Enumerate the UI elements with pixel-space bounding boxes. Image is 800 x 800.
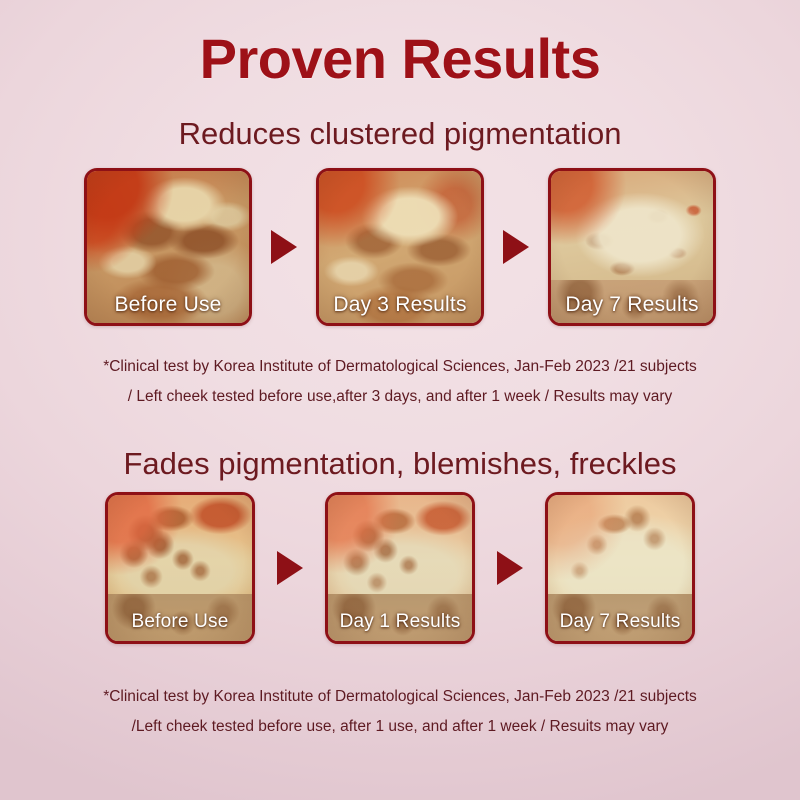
- panel-label: Day 3 Results: [319, 293, 481, 317]
- disclaimer-2: *Clinical test by Korea Institute of Der…: [0, 682, 800, 742]
- disclaimer-line: /Left cheek tested before use, after 1 u…: [0, 712, 800, 742]
- arrow-right-icon: [277, 551, 303, 585]
- result-panel-day-7-1: Day 7 Results: [548, 168, 716, 326]
- disclaimer-1: *Clinical test by Korea Institute of Der…: [0, 352, 800, 412]
- result-panel-day-3: Day 3 Results: [316, 168, 484, 326]
- results-row-1: Before Use Day 3 Results Day 7 Results: [0, 168, 800, 326]
- disclaimer-line: / Left cheek tested before use,after 3 d…: [0, 382, 800, 412]
- arrow-right-icon: [497, 551, 523, 585]
- result-panel-day-1: Day 1 Results: [325, 492, 475, 644]
- panel-label: Day 7 Results: [548, 611, 692, 633]
- disclaimer-line: *Clinical test by Korea Institute of Der…: [0, 352, 800, 382]
- result-panel-before-use-1: Before Use: [84, 168, 252, 326]
- disclaimer-line: *Clinical test by Korea Institute of Der…: [0, 682, 800, 712]
- page-title: Proven Results: [0, 26, 800, 91]
- results-row-2: Before Use Day 1 Results Day 7 Results: [0, 492, 800, 644]
- infographic-page: Proven Results Reduces clustered pigment…: [0, 0, 800, 800]
- arrow-right-icon: [503, 230, 529, 264]
- panel-label: Before Use: [108, 611, 252, 633]
- panel-label: Day 7 Results: [551, 293, 713, 317]
- section-heading-1: Reduces clustered pigmentation: [0, 116, 800, 152]
- section-heading-2: Fades pigmentation, blemishes, freckles: [0, 446, 800, 482]
- panel-label: Before Use: [87, 293, 249, 317]
- result-panel-day-7-2: Day 7 Results: [545, 492, 695, 644]
- panel-label: Day 1 Results: [328, 611, 472, 633]
- result-panel-before-use-2: Before Use: [105, 492, 255, 644]
- arrow-right-icon: [271, 230, 297, 264]
